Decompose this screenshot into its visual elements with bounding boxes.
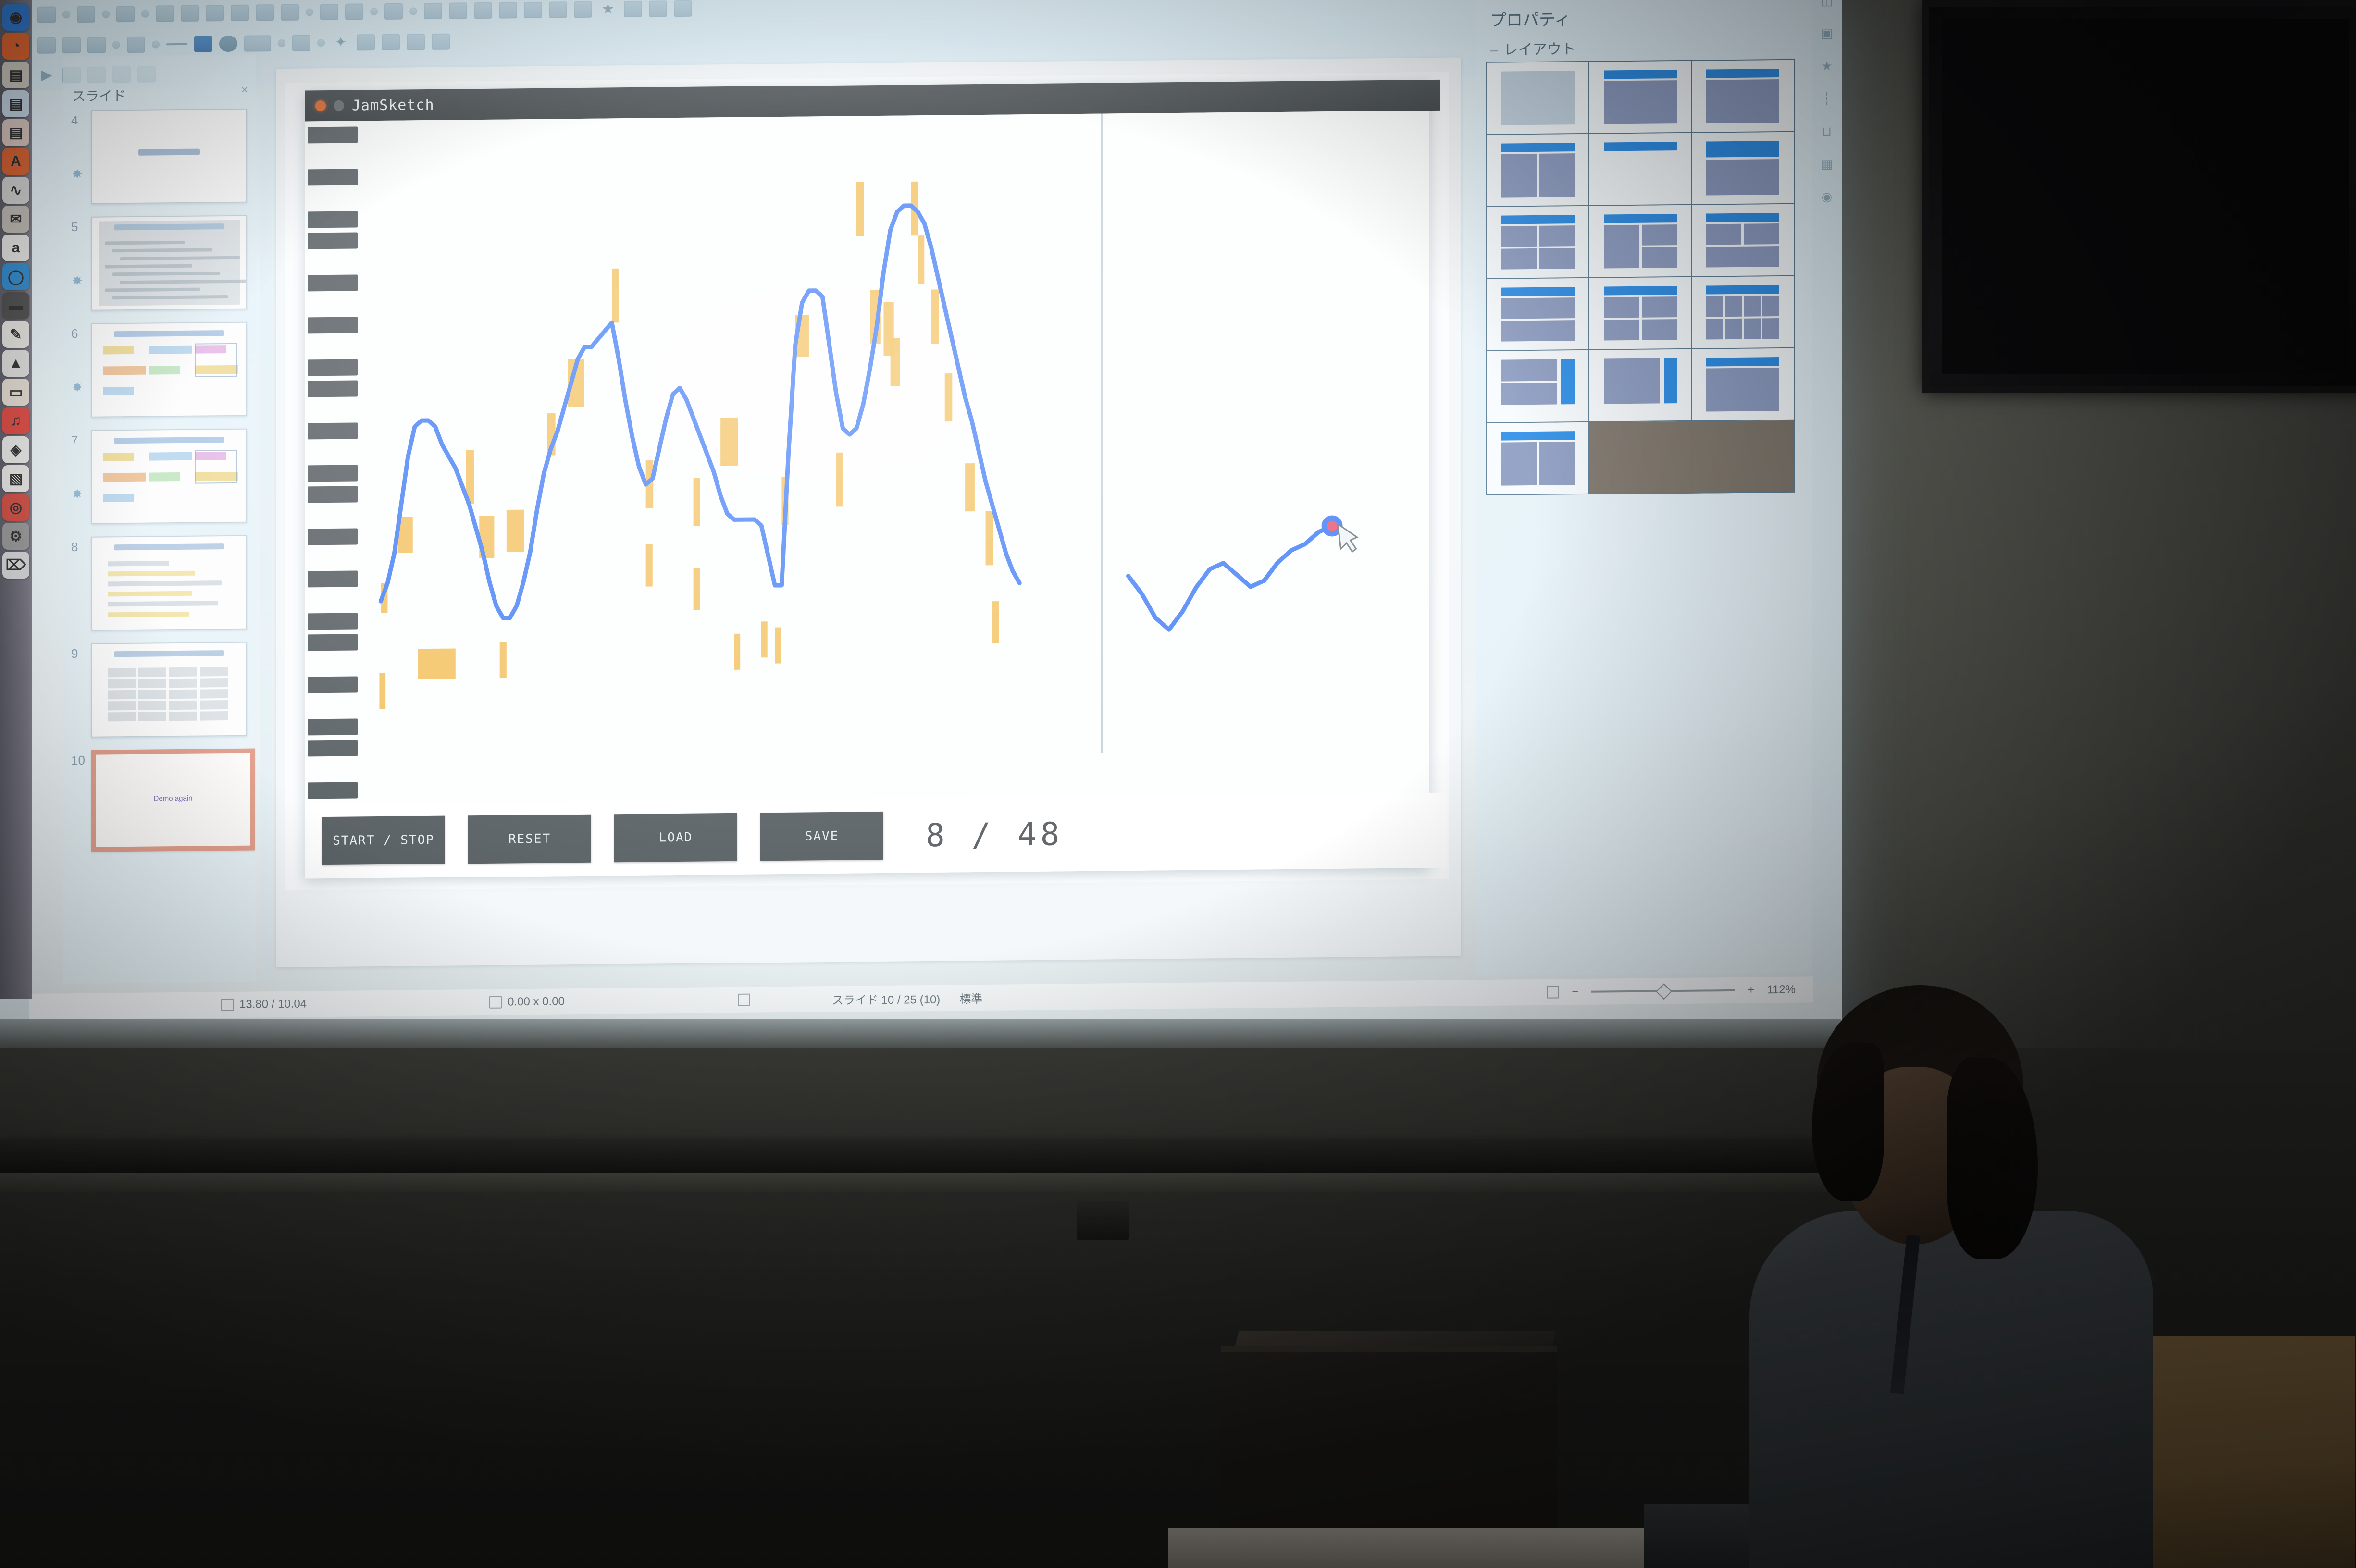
thumb-table-cell: [108, 668, 136, 678]
layout-block: [1642, 247, 1677, 268]
slide-thumbnail-preview[interactable]: [91, 215, 247, 311]
layout-block: [1725, 319, 1742, 339]
slide-number: 7: [71, 433, 78, 448]
layout-block: [1604, 80, 1677, 124]
thumb-table-cell: [108, 679, 136, 689]
layout-block: [1725, 296, 1742, 317]
cut-icon[interactable]: [231, 5, 249, 21]
screen-ledge: [0, 1139, 1826, 1173]
slide-thumbnail-list[interactable]: 4✸5✸6✸7✸8910Demo again: [63, 108, 256, 982]
note-rect: [761, 621, 768, 657]
layout-option-title-two-two[interactable]: [1589, 205, 1692, 278]
layout-block: [1604, 70, 1677, 79]
layout-option-blank[interactable]: [1487, 62, 1589, 135]
thumb-table-cell: [169, 701, 197, 710]
sidebar-tab-rail[interactable]: ◫ ▣ ★ ┆ ⊔ ▦ ◉: [1812, 0, 1842, 982]
dock-item-safari[interactable]: ◎: [2, 494, 29, 521]
thumb-table-cell: [169, 712, 197, 721]
dock-item-mail[interactable]: ✉: [2, 206, 29, 233]
layout-block: [1604, 225, 1639, 269]
slide-thumbnail-preview[interactable]: Demo again: [91, 748, 255, 852]
paste-icon[interactable]: [281, 4, 299, 21]
dock-item-libreoffice-calc[interactable]: ▤: [2, 119, 29, 146]
slide-thumbnail-preview[interactable]: [91, 322, 247, 418]
thumb-title-block: [114, 650, 224, 657]
thumb-title-block: [138, 148, 200, 155]
dock-item-preview[interactable]: ∿: [2, 177, 29, 204]
dropdown-caret-icon[interactable]: [152, 40, 160, 48]
layout-block: [1604, 214, 1677, 223]
thumb-text-line: [108, 561, 169, 566]
styles-icon[interactable]: ⊔: [1818, 123, 1836, 139]
undo-icon[interactable]: [345, 3, 363, 20]
dropdown-caret-icon[interactable]: [141, 10, 149, 18]
fit-slide-icon[interactable]: [1547, 986, 1559, 998]
new-document-icon[interactable]: [37, 6, 56, 23]
status-position-value: 13.80 / 10.04: [239, 997, 307, 1011]
thumb-content-block: [103, 346, 134, 355]
clone-formatting-icon[interactable]: [320, 4, 338, 20]
layout-block: [1501, 143, 1575, 152]
thumb-table-cell: [169, 679, 197, 688]
layout-block: [1501, 321, 1575, 342]
screenshot-root: ★: [0, 0, 2356, 1568]
slide-thumbnail-preview[interactable]: [91, 535, 247, 631]
dropdown-caret-icon[interactable]: [317, 39, 325, 47]
layout-block: [1642, 296, 1677, 317]
presenter-hair-right: [1947, 1057, 2038, 1259]
status-position: 13.80 / 10.04: [221, 997, 307, 1012]
layout-preview: [1706, 285, 1779, 340]
star-shape-icon[interactable]: ★: [599, 1, 617, 17]
layout-option-title-only[interactable]: [1692, 60, 1795, 133]
layout-block: [1706, 213, 1779, 222]
layout-block: [1706, 285, 1779, 294]
layout-block: [1501, 287, 1575, 296]
thumb-table-cell: [138, 679, 166, 688]
note-rect: [856, 182, 864, 236]
arrow-style-icon[interactable]: [292, 35, 310, 51]
header-footer-icon[interactable]: [574, 1, 592, 18]
select-icon[interactable]: [37, 37, 56, 53]
print-icon[interactable]: [181, 5, 199, 22]
note-rect: [986, 511, 993, 566]
layout-preview: [1706, 213, 1779, 268]
layout-block: [1706, 247, 1779, 268]
slide-panel-close-icon[interactable]: ×: [241, 84, 248, 97]
slide-thumbnail[interactable]: 8: [63, 535, 256, 633]
layout-option-title-big-content[interactable]: [1692, 348, 1795, 421]
layout-empty-cell: [1692, 420, 1795, 494]
jamsketch-window-title: JamSketch: [352, 96, 434, 114]
note-rect: [720, 418, 738, 466]
equipment-box: [1221, 1346, 1557, 1554]
zoom-out-button[interactable]: −: [1572, 985, 1578, 999]
dock-item-amazon[interactable]: a: [2, 235, 29, 261]
layout-option-title-two-three[interactable]: [1487, 206, 1589, 279]
slide-panel-title: スライド: [72, 86, 126, 105]
note-rect: [965, 463, 975, 511]
slideshow-icon[interactable]: [674, 0, 692, 17]
slide-thumbnail-text: Demo again: [96, 794, 250, 803]
align-icon[interactable]: [407, 34, 425, 50]
note-rect: [931, 289, 939, 344]
layout-block: [1762, 319, 1779, 339]
wall-mounted-display: [1922, 0, 2356, 393]
layout-block: [1501, 431, 1575, 440]
jamsketch-controls[interactable]: START / STOPRESETLOADSAVE8 / 48: [305, 793, 1447, 879]
layout-preview: [1604, 214, 1677, 269]
slide-number: 8: [71, 540, 78, 555]
slide-number: 10: [71, 753, 85, 768]
marker-tray: [1077, 1201, 1129, 1240]
note-rect: [694, 568, 700, 610]
layout-section-title[interactable]: レイアウト: [1490, 37, 1576, 59]
note-rect: [379, 673, 385, 709]
layout-option-title-three-rows[interactable]: [1487, 278, 1589, 351]
layout-block: [1604, 358, 1660, 404]
line-style-icon[interactable]: [244, 35, 271, 52]
slide-thumbnail[interactable]: 6✸: [63, 321, 256, 420]
layout-option-title-two-equal[interactable]: [1487, 422, 1589, 495]
layout-block: [1664, 358, 1677, 404]
snap-guides-icon[interactable]: [649, 0, 667, 17]
layout-preview: [1604, 70, 1677, 124]
layout-block: [1706, 159, 1779, 196]
slide-canvas[interactable]: JamSketch START / STOPRESETLOADSAVE8 / 4…: [276, 57, 1461, 967]
dock-item-appcleaner[interactable]: ▲: [2, 350, 29, 377]
layout-grid[interactable]: [1486, 59, 1795, 495]
thumb-table-cell: [169, 667, 197, 677]
layout-block: [1744, 296, 1761, 317]
dropdown-caret-icon[interactable]: [370, 8, 378, 15]
layout-preview: [1604, 358, 1677, 413]
lock-icon: [738, 994, 750, 1006]
copy-icon[interactable]: [256, 4, 274, 21]
layout-block: [1706, 357, 1779, 366]
slide-transition-icon[interactable]: ▣: [1818, 25, 1836, 41]
note-rect: [734, 634, 740, 670]
save-button[interactable]: SAVE: [760, 812, 883, 861]
note-rect: [418, 648, 456, 679]
thumb-table-cell: [200, 689, 228, 699]
spelling-icon[interactable]: [449, 2, 467, 19]
layout-preview: [1501, 143, 1575, 198]
layout-option-title-two-content[interactable]: [1487, 134, 1589, 207]
melody-contour-chart[interactable]: [305, 111, 1429, 803]
thumb-table-cell: [138, 667, 166, 677]
layout-option-content-sidebar[interactable]: [1589, 349, 1692, 422]
start-stop-button[interactable]: START / STOP: [322, 816, 445, 865]
zoom-slider-knob[interactable]: [1656, 983, 1672, 1000]
open-icon[interactable]: [77, 6, 95, 23]
layout-block: [1501, 248, 1537, 269]
animation-star-icon: ✸: [72, 273, 83, 288]
thumb-figure: [195, 450, 237, 483]
dock-item-libreoffice-impress[interactable]: ▤: [2, 62, 29, 88]
layout-block: [1561, 359, 1574, 405]
animation-star-icon: ✸: [72, 487, 83, 502]
dock-item-photos[interactable]: ◈: [2, 436, 29, 463]
thumb-table-cell: [138, 712, 166, 721]
macos-dock[interactable]: ◉◔▤▤▤A∿✉a◯▬✎▲▭♫◈▧◎⚙⌦: [0, 0, 32, 999]
draw-endpoint-inner: [1327, 520, 1338, 531]
note-rect: [500, 642, 507, 678]
dock-item-finder[interactable]: ◉: [2, 4, 29, 31]
animation-star-icon: ✸: [72, 380, 83, 395]
note-rect: [775, 627, 781, 663]
line-icon[interactable]: [166, 43, 187, 45]
layout-block: [1604, 142, 1677, 151]
layout-preview: [1706, 69, 1779, 123]
layout-block: [1706, 69, 1779, 78]
master-slides-icon[interactable]: ┆: [1818, 90, 1836, 107]
layout-block: [1539, 248, 1575, 269]
layout-block: [1501, 297, 1575, 319]
thumb-title-block: [114, 437, 224, 444]
layout-block: [1642, 320, 1677, 340]
reset-button[interactable]: RESET: [468, 815, 591, 864]
layout-block: [1501, 383, 1557, 405]
properties-icon[interactable]: ◫: [1818, 0, 1836, 9]
slide-number: 4: [71, 113, 78, 128]
layout-block: [1501, 71, 1575, 125]
thumb-text-line: [108, 571, 195, 577]
layout-preview: [1501, 431, 1575, 486]
dock-item-notes[interactable]: ✎: [2, 321, 29, 348]
fill-color-icon[interactable]: [194, 36, 212, 52]
slide-thumbnail-preview[interactable]: [91, 642, 247, 738]
close-icon[interactable]: [315, 100, 326, 111]
thumb-content-block: [149, 472, 180, 481]
gallery-icon[interactable]: ▦: [1818, 156, 1836, 172]
thumb-content-block: [103, 473, 146, 482]
start-slideshow-icon[interactable]: ▶: [37, 67, 56, 83]
thumb-text-line: [108, 591, 192, 597]
dropdown-caret-icon[interactable]: [112, 41, 120, 49]
layout-block: [1539, 153, 1575, 197]
dock-item-pages[interactable]: ▧: [2, 465, 29, 492]
layout-option-title-content-blank[interactable]: [1589, 133, 1692, 206]
jamsketch-canvas[interactable]: [305, 111, 1429, 803]
layout-option-title-content-sidebar[interactable]: [1487, 350, 1589, 423]
dock-item-skype[interactable]: ◯: [2, 263, 29, 290]
thumb-content-block: [103, 366, 146, 375]
arrange-icon[interactable]: [432, 34, 450, 50]
thumb-table-cell: [108, 690, 136, 700]
slide-thumbnail[interactable]: 5✸: [63, 215, 256, 313]
layout-block: [1706, 296, 1723, 317]
slide-thumbnail[interactable]: 10Demo again: [63, 748, 256, 846]
display-views-icon[interactable]: [127, 37, 145, 53]
layout-block: [1604, 286, 1677, 295]
redo-icon[interactable]: [384, 3, 403, 20]
screen-bottom-edge: [0, 1019, 1841, 1049]
dropdown-caret-icon[interactable]: [409, 7, 417, 15]
thumb-content-block: [149, 452, 192, 461]
layout-preview: [1501, 359, 1575, 414]
thumb-text-line: [108, 611, 189, 617]
shadow-icon[interactable]: [219, 36, 237, 52]
status-size: 0.00 x 0.00: [489, 995, 565, 1009]
dropdown-caret-icon[interactable]: [306, 8, 313, 16]
thumb-content-block: [103, 453, 134, 461]
slide-thumbnail-preview[interactable]: [91, 109, 247, 204]
thumb-table-cell: [108, 712, 136, 722]
print-preview-icon[interactable]: [206, 5, 224, 21]
screen-ledge-lower: [0, 1173, 1826, 1192]
layout-preview: [1604, 142, 1677, 197]
navigator-icon[interactable]: ◉: [1818, 188, 1836, 205]
layout-block: [1539, 225, 1575, 246]
status-slide-value: スライド 10 / 25 (10): [832, 989, 940, 1007]
thumb-content-block: [103, 386, 134, 395]
layout-block: [1706, 141, 1779, 158]
layout-block: [1744, 319, 1761, 339]
slide-number: 6: [71, 326, 78, 341]
layout-block: [1706, 368, 1779, 411]
layout-option-title-two-col-rows[interactable]: [1589, 277, 1692, 350]
dock-item-system-preferences[interactable]: ⚙: [2, 523, 29, 550]
slide-number: 5: [71, 220, 78, 235]
status-view-mode-value: 標準: [959, 989, 982, 1006]
note-rect: [646, 544, 653, 587]
thumb-content-block: [149, 346, 192, 354]
layout-block: [1706, 224, 1741, 245]
contour-line-new-stroke[interactable]: [1128, 526, 1332, 630]
thumb-table-cell: [169, 690, 197, 699]
layout-block: [1706, 79, 1779, 123]
dock-item-keynote[interactable]: ▭: [2, 379, 29, 406]
slide-panel[interactable]: スライド × 4✸5✸6✸7✸8910Demo again: [63, 54, 256, 984]
flowchart-icon[interactable]: ✦: [332, 35, 350, 51]
thumb-table-cell: [200, 711, 228, 721]
thumb-text-line: [108, 601, 218, 607]
table-icon[interactable]: [474, 2, 492, 19]
layout-block: [1762, 296, 1779, 316]
note-rect: [507, 510, 524, 552]
layout-empty-cell: [1589, 421, 1692, 494]
layout-block: [1501, 359, 1557, 381]
thumb-title-block: [114, 543, 224, 550]
display-grid-icon[interactable]: [624, 1, 642, 17]
layout-preview: [1706, 141, 1779, 196]
image-icon[interactable]: [499, 2, 517, 18]
thumb-table-cell: [138, 690, 166, 699]
slide-thumbnail[interactable]: 7✸: [63, 428, 256, 526]
layout-preview: [1706, 357, 1779, 412]
minimize-icon[interactable]: [334, 100, 344, 111]
status-view-mode: 標準: [959, 989, 982, 1006]
textbox-icon[interactable]: [549, 1, 567, 18]
thumb-body-block: [99, 220, 240, 306]
thumb-table-cell: [200, 700, 228, 710]
layout-block: [1501, 442, 1537, 486]
zoom-icon[interactable]: [62, 37, 81, 53]
display-screen: [1942, 19, 2349, 374]
layout-preview: [1501, 71, 1575, 125]
export-pdf-icon[interactable]: [156, 5, 174, 22]
presenter-torso: [1749, 1211, 2153, 1568]
status-lock: [738, 994, 750, 1006]
thumb-text-line: [108, 580, 222, 586]
layout-block: [1706, 319, 1723, 340]
note-rect: [836, 453, 843, 507]
layout-block: [1642, 224, 1677, 245]
dock-item-atom[interactable]: A: [2, 148, 29, 175]
note-rect: [694, 478, 700, 526]
slide-page[interactable]: JamSketch START / STOPRESETLOADSAVE8 / 4…: [285, 72, 1449, 890]
status-size-value: 0.00 x 0.00: [508, 995, 565, 1009]
edit-area[interactable]: JamSketch START / STOPRESETLOADSAVE8 / 4…: [260, 43, 1471, 982]
layout-block: [1539, 442, 1575, 485]
thumb-content-block: [149, 366, 180, 374]
slide-thumbnail-preview[interactable]: [91, 429, 247, 524]
thumb-table-cell: [200, 667, 228, 677]
slide-thumbnail[interactable]: 4✸: [63, 108, 256, 206]
properties-panel-title: プロパティ: [1490, 6, 1571, 31]
size-icon: [489, 996, 502, 1009]
note-rect: [945, 373, 953, 421]
note-rect: [992, 601, 999, 643]
chart-icon[interactable]: [524, 2, 542, 18]
find-replace-icon[interactable]: [424, 3, 442, 19]
load-button[interactable]: LOAD: [614, 813, 737, 862]
zoom-slider[interactable]: [1591, 989, 1735, 993]
dropdown-caret-icon[interactable]: [102, 10, 110, 18]
dock-item-libreoffice-writer[interactable]: ▤: [2, 90, 29, 117]
thumb-table-cell: [200, 678, 228, 688]
mouse-cursor: [1338, 524, 1357, 552]
thumb-title-block: [114, 330, 224, 337]
thumb-figure: [195, 343, 237, 377]
properties-panel[interactable]: プロパティ レイアウト: [1476, 0, 1812, 976]
dock-item-trash[interactable]: ⌦: [2, 552, 29, 579]
layout-option-title-content[interactable]: [1589, 61, 1692, 134]
dropdown-caret-icon[interactable]: [278, 39, 285, 47]
dock-item-music[interactable]: ♫: [2, 407, 29, 434]
layout-option-title-center[interactable]: [1692, 132, 1795, 205]
position-icon: [221, 999, 234, 1011]
animation-star-icon: ✸: [72, 167, 83, 182]
note-rect: [891, 338, 900, 386]
vertical-ruler: [260, 54, 272, 982]
dock-item-firefox[interactable]: ◔: [2, 33, 29, 60]
layout-block: [1744, 223, 1779, 244]
note-rect: [918, 235, 924, 284]
connector-icon[interactable]: [382, 34, 400, 50]
thumb-content-block: [103, 493, 134, 502]
callout-icon[interactable]: [357, 34, 375, 50]
note-rect: [612, 269, 619, 323]
layout-preview: [1501, 287, 1575, 342]
dropdown-caret-icon[interactable]: [62, 11, 70, 18]
dock-item-terminal[interactable]: ▬: [2, 292, 29, 319]
animation-star-icon[interactable]: ★: [1818, 58, 1836, 74]
layout-block: [1501, 226, 1537, 247]
layout-option-title-four-grid[interactable]: [1692, 276, 1795, 349]
grid-icon[interactable]: [87, 37, 106, 53]
jamsketch-window[interactable]: JamSketch START / STOPRESETLOADSAVE8 / 4…: [305, 80, 1429, 878]
libreoffice-impress-window: ★: [29, 0, 1842, 1038]
save-icon[interactable]: [116, 6, 135, 22]
layout-block: [1501, 154, 1537, 198]
thumb-table-cell: [138, 701, 166, 710]
layout-option-title-two-stacked[interactable]: [1692, 204, 1795, 277]
slide-thumbnail[interactable]: 9: [63, 642, 256, 740]
layout-block: [1604, 297, 1639, 318]
layout-preview: [1604, 286, 1677, 341]
